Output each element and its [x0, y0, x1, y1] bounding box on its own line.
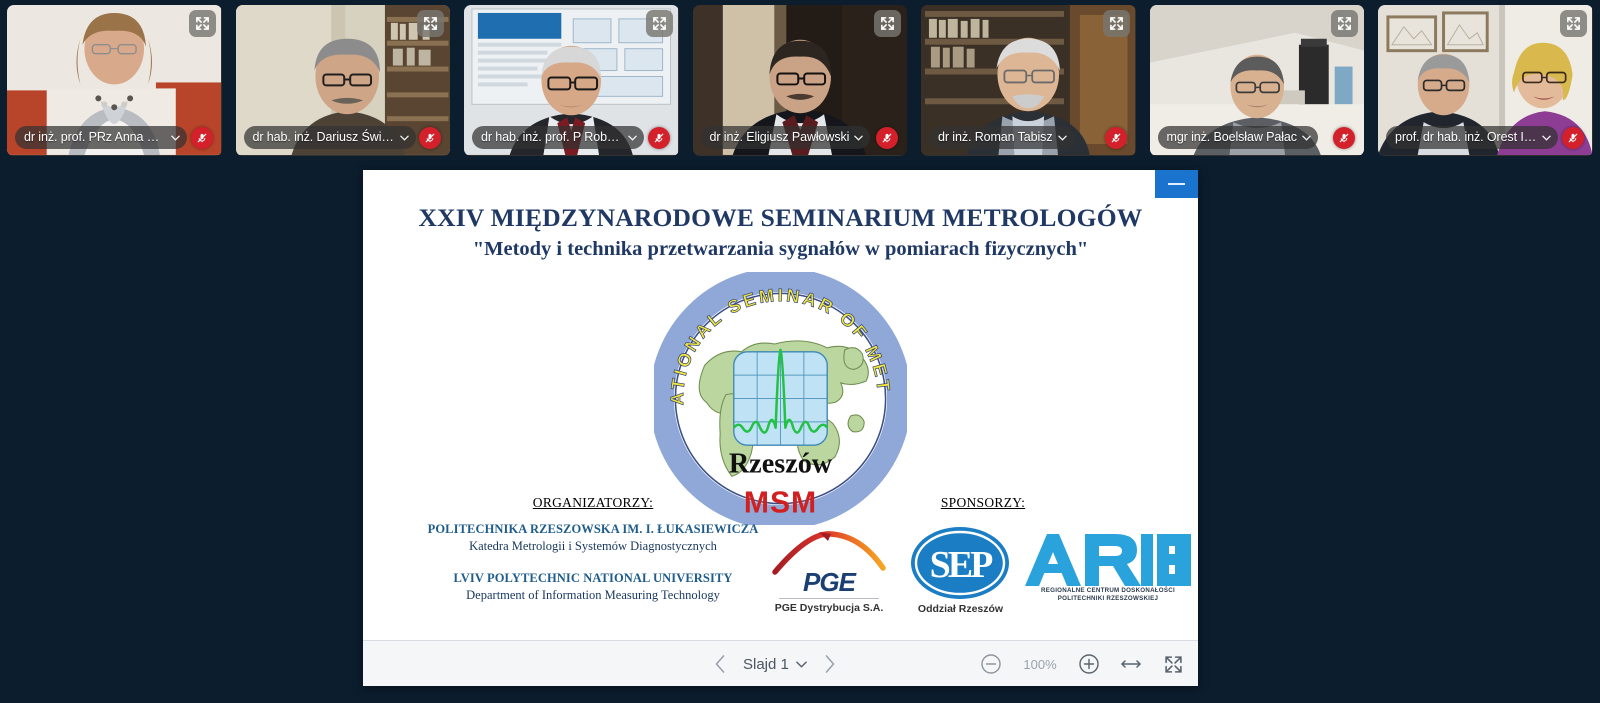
expand-arrows-icon[interactable]	[1331, 10, 1358, 37]
organizer-department: Katedra Metrologii i Systemów Diagnostyc…	[403, 539, 783, 554]
pge-logo: PGE PGE Dystrybucja S.A.	[769, 528, 889, 624]
video-tile[interactable]: dr hab. inż. prof. P Robert …	[457, 0, 686, 163]
video-tile[interactable]: prof. dr hab. inż. Orest Ivak…	[1371, 0, 1600, 163]
emblem-acronym-text: MSM	[744, 486, 817, 519]
microphone-muted-icon	[419, 127, 441, 149]
organizer-institution: LVIV POLYTECHNIC NATIONAL UNIVERSITY	[403, 571, 783, 586]
chevron-left-icon	[714, 655, 727, 673]
microphone-muted-icon	[1105, 127, 1127, 149]
slide-number-label: Slajd 1	[743, 656, 789, 673]
chevron-down-icon[interactable]	[796, 661, 807, 668]
expand-arrows-icon[interactable]	[646, 10, 673, 37]
fit-width-icon	[1120, 657, 1142, 671]
video-tile[interactable]: dr inż. Eligiusz Pawłowski	[686, 0, 915, 163]
video-tile[interactable]: mgr inż. Boelsław Pałac	[1143, 0, 1372, 163]
minimize-icon	[1168, 183, 1185, 186]
zoom-in-icon	[1078, 653, 1100, 675]
pge-wordmark: PGE	[803, 567, 857, 597]
fullscreen-icon	[1164, 655, 1183, 674]
participant-name: dr inż. Roman Tabisz	[938, 126, 1053, 149]
participant-name-bar[interactable]: mgr inż. Boelsław Pałac	[1158, 126, 1318, 149]
organizer-department: Department of Information Measuring Tech…	[403, 588, 783, 603]
organizers-list: POLITECHNIKA RZESZOWSKA IM. I. ŁUKASIEWI…	[403, 522, 783, 603]
participant-name-bar[interactable]: dr inż. prof. PRz Anna Szlac…	[15, 126, 187, 149]
participant-name-bar[interactable]: dr hab. inż. Dariusz Świsuls…	[244, 126, 416, 149]
arieet-caption-line2: POLITECHNIKI RZESZOWSKIEJ	[1023, 595, 1193, 602]
slide-title: XXIV MIĘDZYNARODOWE SEMINARIUM METROLOGÓ…	[363, 203, 1198, 233]
msm-emblem-logo: Rzeszów MSM INTERNATIONAL SEMINAR OF MET…	[654, 272, 907, 525]
arieet-logo: REGIONALNE CENTRUM DOSKONAŁOŚCI POLITECH…	[1023, 530, 1193, 622]
participant-name: prof. dr hab. inż. Orest Ivak…	[1395, 126, 1537, 149]
microphone-muted-icon	[191, 127, 213, 149]
zoom-level-label: 100%	[1020, 657, 1060, 672]
next-slide-button[interactable]	[817, 651, 843, 677]
chevron-down-icon[interactable]	[171, 135, 180, 141]
participant-video-strip: dr inż. prof. PRz Anna Szlac…	[0, 0, 1600, 163]
zoom-out-icon	[980, 653, 1002, 675]
slide-selector[interactable]: Slajd 1	[743, 656, 807, 673]
sep-wordmark: SEP	[930, 544, 993, 586]
meeting-screen: dr inż. prof. PRz Anna Szlac…	[0, 0, 1600, 703]
participant-name: dr hab. inż. prof. P Robert …	[481, 126, 623, 149]
pge-caption: PGE Dystrybucja S.A.	[769, 602, 889, 614]
participant-name: dr inż. prof. PRz Anna Szlac…	[24, 126, 166, 149]
organizer-institution: POLITECHNIKA RZESZOWSKA IM. I. ŁUKASIEWI…	[403, 522, 783, 537]
sep-caption: Oddział Rzeszów	[908, 603, 1013, 615]
microphone-muted-icon	[648, 127, 670, 149]
participant-name-bar[interactable]: dr hab. inż. prof. P Robert …	[472, 126, 644, 149]
slide-subtitle: "Metody i technika przetwarzania sygnałó…	[363, 238, 1198, 261]
participant-name-bar[interactable]: dr inż. Roman Tabisz	[929, 126, 1074, 149]
participant-name: mgr inż. Boelsław Pałac	[1167, 126, 1297, 149]
microphone-muted-icon	[1333, 127, 1355, 149]
chevron-down-icon[interactable]	[1302, 135, 1311, 141]
previous-slide-button[interactable]	[707, 651, 733, 677]
zoom-out-button[interactable]	[978, 651, 1004, 677]
chevron-right-icon	[823, 655, 836, 673]
video-tile[interactable]: dr hab. inż. Dariusz Świsuls…	[229, 0, 458, 163]
video-tile[interactable]: dr inż. prof. PRz Anna Szlac…	[0, 0, 229, 163]
slide-toolbar: Slajd 1 100%	[363, 640, 1198, 686]
participant-name-bar[interactable]: dr inż. Eligiusz Pawłowski	[701, 126, 871, 149]
fullscreen-button[interactable]	[1160, 651, 1186, 677]
slide-canvas[interactable]: XXIV MIĘDZYNARODOWE SEMINARIUM METROLOGÓ…	[363, 170, 1198, 640]
organizers-heading: ORGANIZATORZY:	[443, 495, 743, 511]
expand-arrows-icon[interactable]	[874, 10, 901, 37]
chevron-down-icon[interactable]	[400, 135, 409, 141]
participant-name: dr hab. inż. Dariusz Świsuls…	[253, 126, 395, 149]
zoom-in-button[interactable]	[1076, 651, 1102, 677]
participant-name: dr inż. Eligiusz Pawłowski	[710, 126, 850, 149]
chevron-down-icon[interactable]	[1058, 135, 1067, 141]
sponsors-heading: SPONSORZY:	[833, 495, 1133, 511]
video-tile[interactable]: dr inż. Roman Tabisz	[914, 0, 1143, 163]
expand-arrows-icon[interactable]	[1560, 10, 1587, 37]
fit-width-button[interactable]	[1118, 651, 1144, 677]
sep-logo: SEP Oddział Rzeszów	[908, 525, 1013, 625]
chevron-down-icon[interactable]	[854, 135, 863, 141]
microphone-muted-icon	[1562, 127, 1584, 149]
expand-arrows-icon[interactable]	[417, 10, 444, 37]
expand-arrows-icon[interactable]	[1103, 10, 1130, 37]
arieet-caption-line1: REGIONALNE CENTRUM DOSKONAŁOŚCI	[1023, 587, 1193, 594]
screen-share-panel: XXIV MIĘDZYNARODOWE SEMINARIUM METROLOGÓ…	[363, 170, 1198, 686]
chevron-down-icon[interactable]	[628, 135, 637, 141]
emblem-city-text: Rzeszów	[729, 448, 833, 479]
sponsor-logos: PGE PGE Dystrybucja S.A. SEP Oddział Rze…	[758, 520, 1188, 630]
chevron-down-icon[interactable]	[1542, 135, 1551, 141]
participant-name-bar[interactable]: prof. dr hab. inż. Orest Ivak…	[1386, 126, 1558, 149]
minimize-button[interactable]	[1155, 170, 1198, 198]
microphone-muted-icon	[876, 127, 898, 149]
expand-arrows-icon[interactable]	[189, 10, 216, 37]
